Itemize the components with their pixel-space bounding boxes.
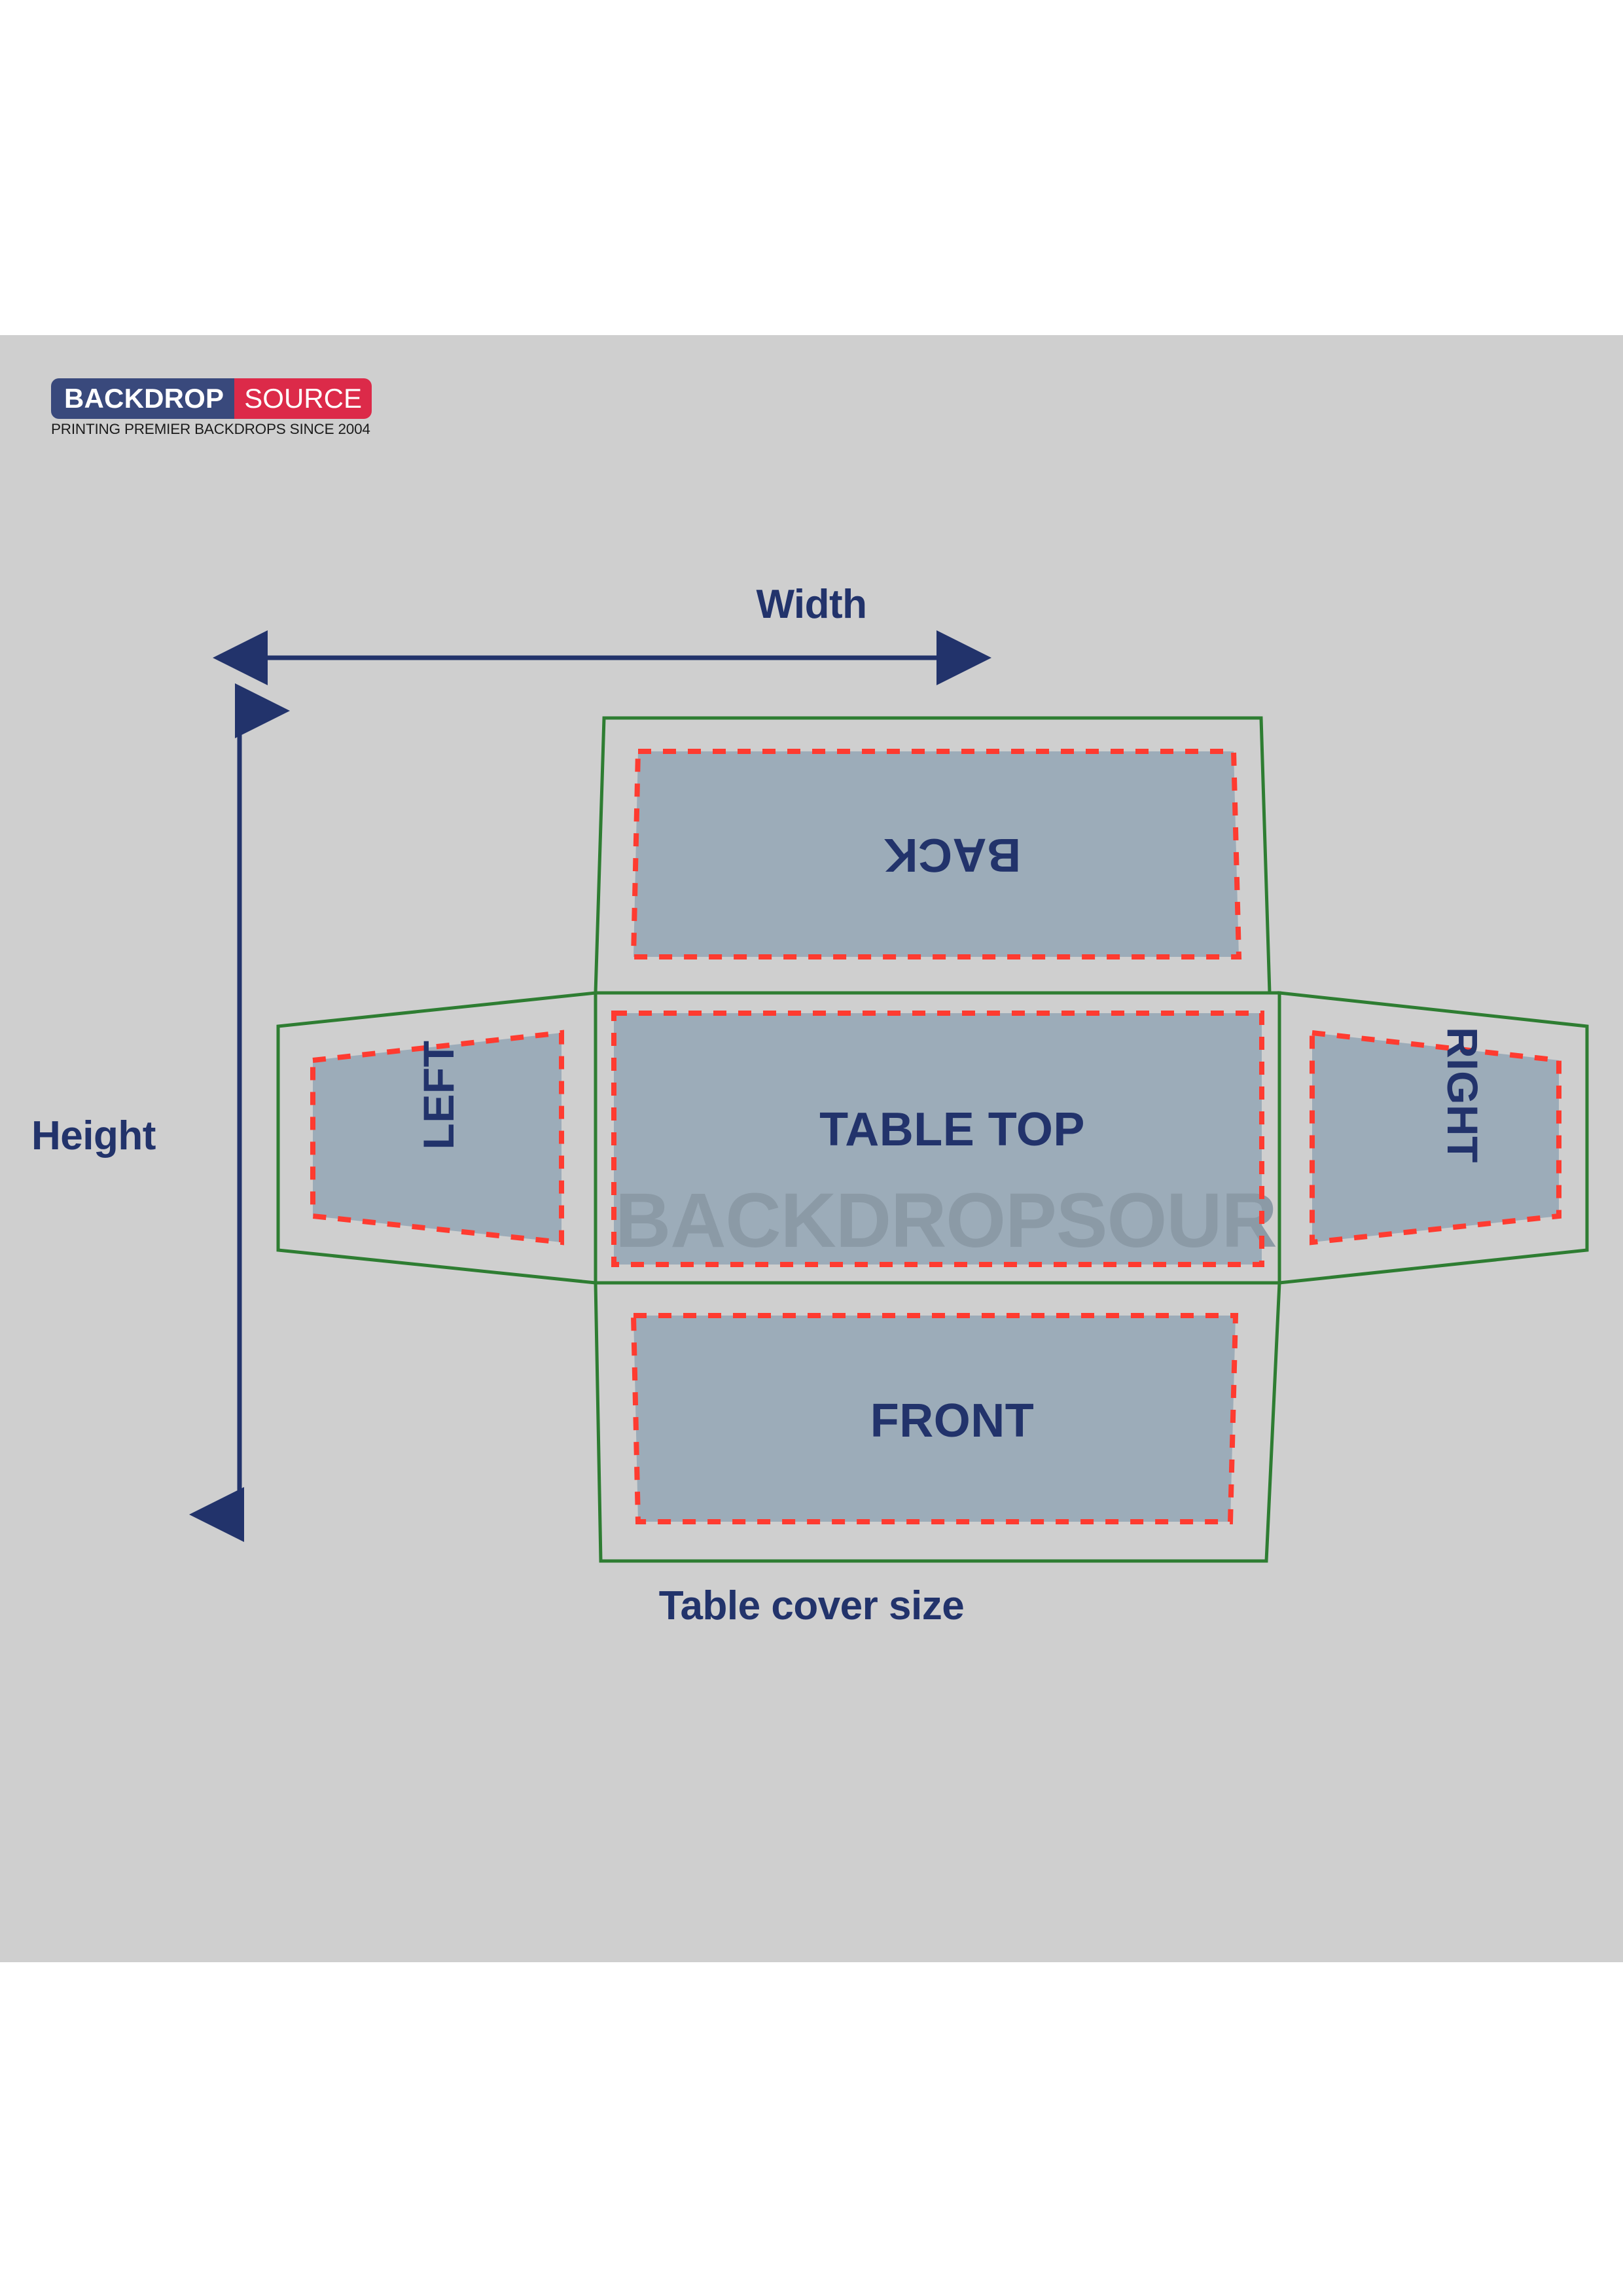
panel-label-back: BACK [690,831,1214,878]
panel-fill-right [1312,1033,1559,1242]
panel-label-right: RIGHT [1441,997,1484,1193]
panel-label-table-top: TABLE TOP [661,1106,1243,1153]
page-root: BACKDROP SOURCE PRINTING PREMIER BACKDRO… [0,0,1623,2296]
panel-label-front: FRONT [690,1397,1214,1444]
watermark-text: BACKDROPSOURCE [615,1177,1383,1264]
panel-label-left: LEFT [417,997,460,1193]
